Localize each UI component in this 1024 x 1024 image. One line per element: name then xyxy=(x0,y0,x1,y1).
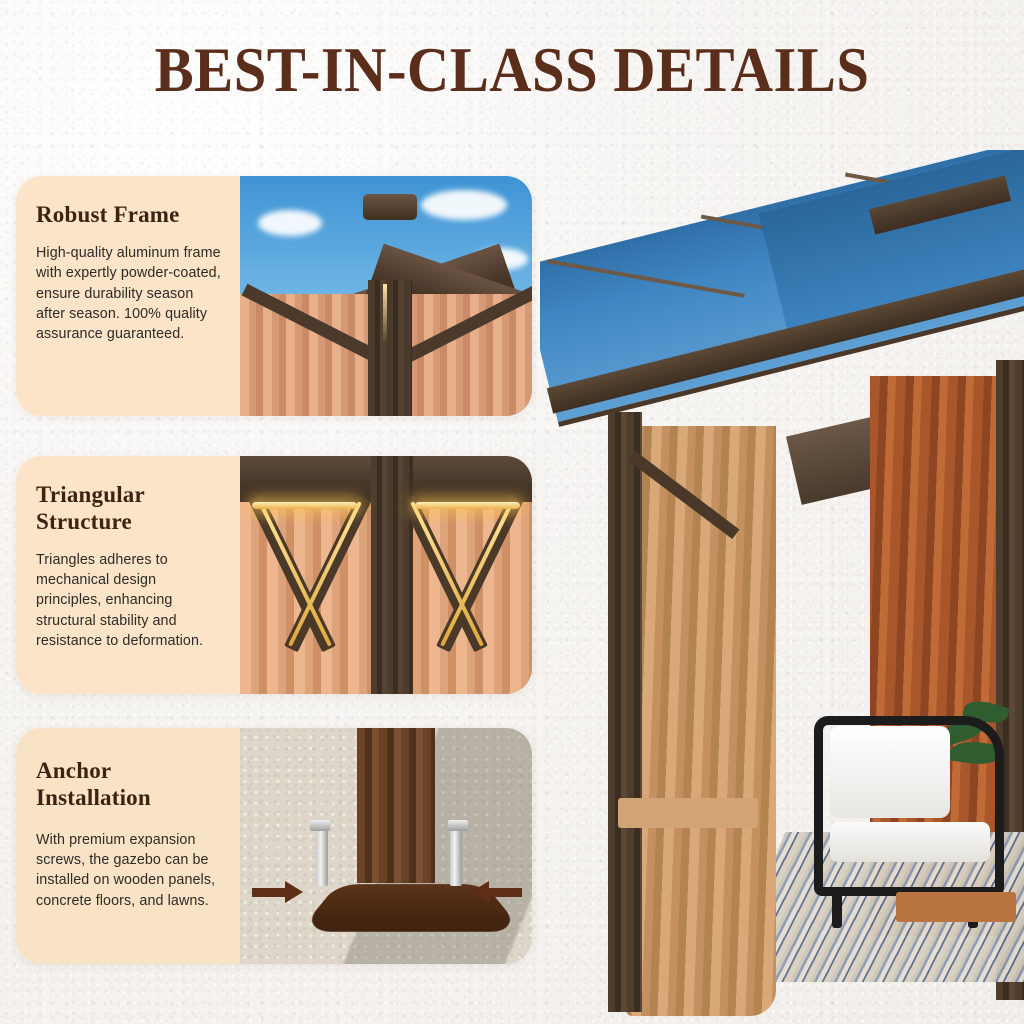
triangle-bracket-left xyxy=(246,498,374,650)
curtain-tieback-right xyxy=(896,892,1016,922)
triangular-bracket-image xyxy=(240,456,532,694)
expansion-screw-right xyxy=(450,824,462,886)
gazebo-post xyxy=(357,728,435,883)
triangle-bracket-right xyxy=(398,498,526,650)
gold-corner-seam xyxy=(383,284,387,344)
infographic-page: BEST-IN-CLASS DETAILS Robust Frame High-… xyxy=(0,0,1024,1024)
pointer-arrow-left-icon xyxy=(252,888,286,897)
pointer-arrow-right-icon xyxy=(488,888,522,897)
expansion-screw-left xyxy=(316,824,328,886)
feature-card-triangular-structure: Triangular Structure Triangles adheres t… xyxy=(16,456,532,694)
feature-card-anchor-installation: Anchor Installation With premium expansi… xyxy=(16,728,532,964)
patio-lounge-chair xyxy=(814,716,1004,896)
hero-gazebo-photo xyxy=(540,150,1024,1024)
feature-card-text-panel: Anchor Installation With premium expansi… xyxy=(16,728,240,964)
screw-nut-left xyxy=(310,820,330,831)
feature-card-body: High-quality aluminum frame with expertl… xyxy=(36,243,222,344)
feature-card-text-panel: Triangular Structure Triangles adheres t… xyxy=(16,456,240,694)
roof-rib xyxy=(547,259,745,298)
chair-leg xyxy=(832,888,842,928)
gazebo-roof-corner-image xyxy=(240,176,532,416)
feature-card-body: Triangles adheres to mechanical design p… xyxy=(36,550,222,651)
gazebo-post-left xyxy=(608,412,642,1012)
feature-card-title: Anchor Installation xyxy=(36,758,222,812)
led-glow-bar-right xyxy=(415,502,520,509)
screw-nut-right xyxy=(448,820,468,831)
roof-corner-cap xyxy=(363,194,417,220)
page-title: BEST-IN-CLASS DETAILS xyxy=(36,34,988,107)
chair-metal-frame xyxy=(814,716,1004,896)
curtain-tieback-left xyxy=(618,798,758,828)
feature-card-title: Triangular Structure xyxy=(36,482,222,536)
feature-card-title: Robust Frame xyxy=(36,202,222,229)
feature-card-text-panel: Robust Frame High-quality aluminum frame… xyxy=(16,176,240,416)
feature-card-robust-frame: Robust Frame High-quality aluminum frame… xyxy=(16,176,532,416)
corner-post xyxy=(368,280,412,416)
anchor-base-image xyxy=(240,728,532,964)
led-glow-bar-left xyxy=(252,502,357,509)
feature-card-body: With premium expansion screws, the gazeb… xyxy=(36,830,222,911)
